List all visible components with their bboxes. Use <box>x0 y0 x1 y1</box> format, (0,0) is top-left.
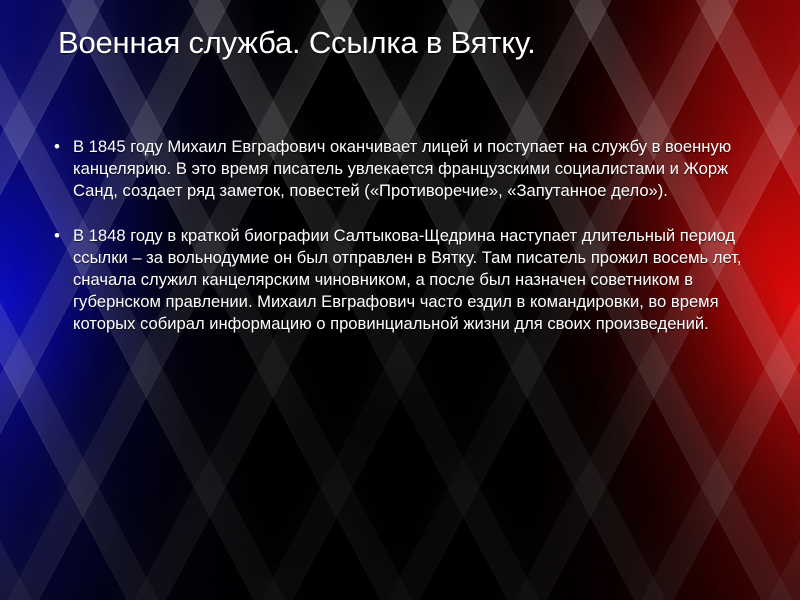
slide-body: • В 1845 году Михаил Евграфович оканчива… <box>48 136 754 336</box>
slide-content: Военная служба. Ссылка в Вятку. • В 1845… <box>0 0 800 600</box>
bullet-item: • В 1848 году в краткой биографии Салтык… <box>48 225 754 336</box>
bullet-item: • В 1845 году Михаил Евграфович оканчива… <box>48 136 754 203</box>
bullet-point-icon: • <box>48 225 73 247</box>
slide-title: Военная служба. Ссылка в Вятку. <box>58 24 758 62</box>
bullet-paragraph-2: В 1848 году в краткой биографии Салтыков… <box>73 225 754 336</box>
bullet-paragraph-1: В 1845 году Михаил Евграфович оканчивает… <box>73 136 754 203</box>
presentation-slide: Военная служба. Ссылка в Вятку. • В 1845… <box>0 0 800 600</box>
bullet-point-icon: • <box>48 136 73 158</box>
